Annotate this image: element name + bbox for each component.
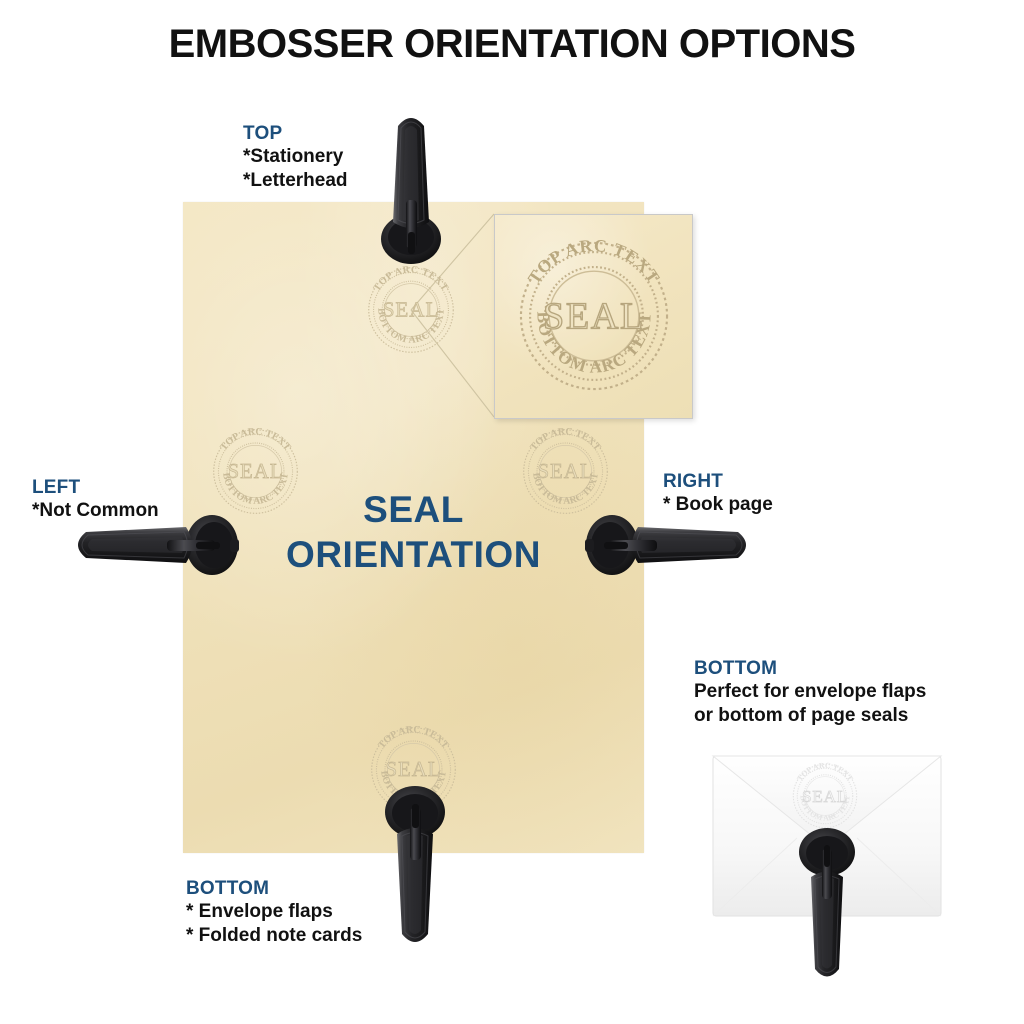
svg-text:TOP ARC TEXT: TOP ARC TEXT	[795, 761, 855, 783]
label-bottom-right-line-1: Perfect for envelope flaps	[694, 680, 926, 704]
embossed-seal-magnified: TOP ARC TEXT BOTTOM ARC TEXT SEAL	[511, 233, 677, 399]
magnified-seal-callout: TOP ARC TEXT BOTTOM ARC TEXT SEAL	[494, 214, 693, 419]
svg-text:SEAL: SEAL	[802, 787, 848, 806]
svg-text:TOP ARC TEXT: TOP ARC TEXT	[523, 235, 664, 287]
label-right-line-1: * Book page	[663, 493, 773, 517]
label-left-heading: LEFT	[32, 476, 159, 499]
label-left-line-1: *Not Common	[32, 499, 159, 523]
label-top-line-2: *Letterhead	[243, 169, 348, 193]
seal-center-text: SEAL	[383, 298, 440, 322]
label-bottom-right-heading: BOTTOM	[694, 657, 926, 680]
center-wordmark-line2: ORIENTATION	[183, 532, 644, 577]
label-bottom-left: BOTTOM * Envelope flaps * Folded note ca…	[186, 877, 362, 948]
label-top: TOP *Stationery *Letterhead	[243, 122, 348, 193]
svg-text:TOP ARC TEXT: TOP ARC TEXT	[528, 426, 603, 453]
svg-text:SEAL: SEAL	[227, 459, 283, 483]
label-top-heading: TOP	[243, 122, 348, 145]
embosser-bottom[interactable]	[382, 782, 448, 958]
label-bottom-right: BOTTOM Perfect for envelope flaps or bot…	[694, 657, 926, 728]
label-right-heading: RIGHT	[663, 470, 773, 493]
page-title: EMBOSSER ORIENTATION OPTIONS	[0, 22, 1024, 67]
label-bottom-left-line-1: * Envelope flaps	[186, 900, 362, 924]
label-bottom-left-line-2: * Folded note cards	[186, 924, 362, 948]
svg-text:TOP ARC TEXT: TOP ARC TEXT	[218, 426, 293, 453]
embosser-top[interactable]	[378, 104, 444, 271]
embossed-seal-top: TOP ARC TEXT BOTTOM ARC TEXT SEAL	[363, 262, 459, 358]
label-right: RIGHT * Book page	[663, 470, 773, 517]
svg-text:TOP ARC TEXT: TOP ARC TEXT	[376, 724, 451, 751]
label-left: LEFT *Not Common	[32, 476, 159, 523]
center-wordmark-line1: SEAL	[183, 487, 644, 532]
embossed-seal-envelope: TOP ARC TEXT BOTTOM ARC TEXT SEAL	[789, 760, 861, 832]
label-top-line-1: *Stationery	[243, 145, 348, 169]
svg-text:SEAL: SEAL	[385, 757, 441, 781]
diagram-canvas: EMBOSSER ORIENTATION OPTIONS	[0, 0, 1024, 1024]
label-bottom-right-line-2: or bottom of page seals	[694, 704, 926, 728]
embosser-envelope[interactable]	[797, 825, 857, 990]
embosser-right[interactable]	[582, 512, 762, 578]
svg-text:SEAL: SEAL	[543, 295, 645, 337]
center-wordmark: SEAL ORIENTATION	[183, 487, 644, 577]
svg-text:SEAL: SEAL	[537, 459, 593, 483]
label-bottom-left-heading: BOTTOM	[186, 877, 362, 900]
